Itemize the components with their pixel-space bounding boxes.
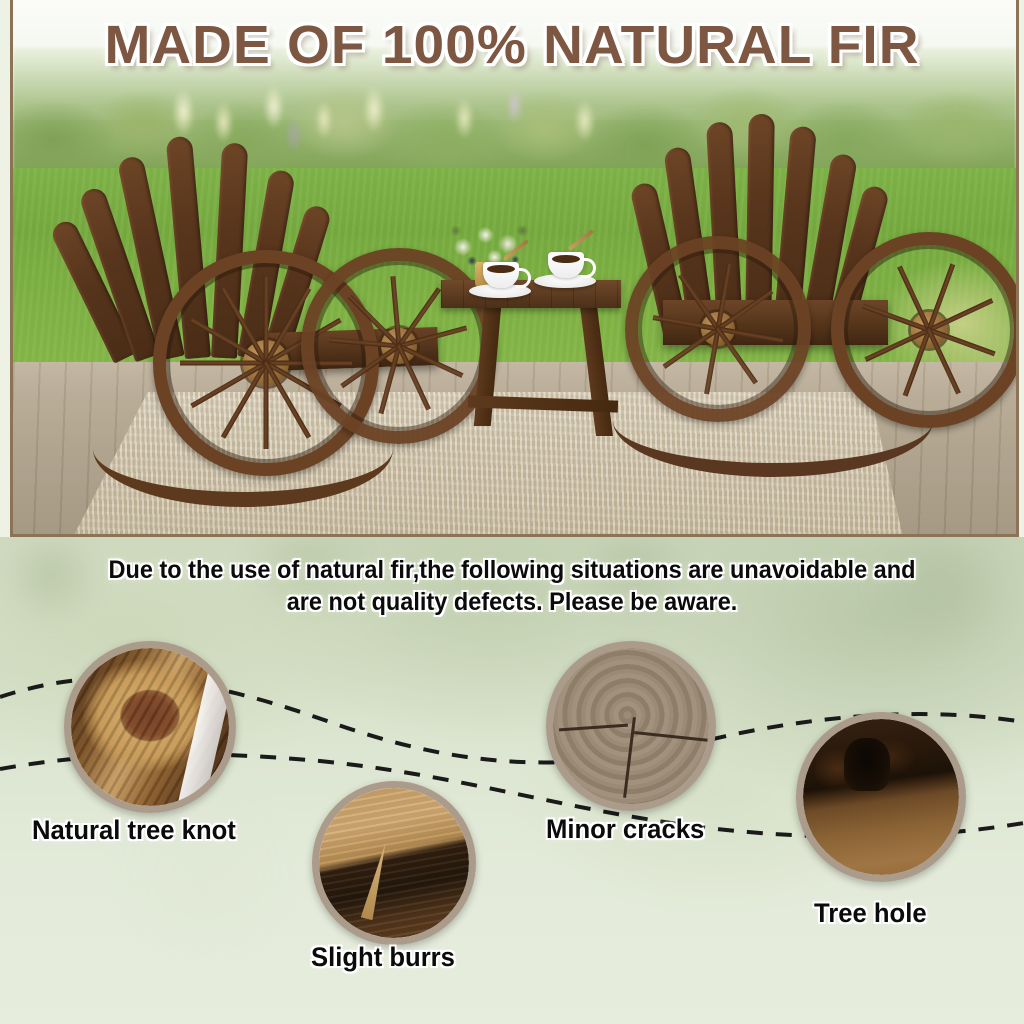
side-table-top xyxy=(441,280,621,308)
feature-label-natural-tree-knot: Natural tree knot xyxy=(32,815,236,846)
feature-image-minor-cracks[interactable] xyxy=(546,641,716,811)
feature-label-tree-hole: Tree hole xyxy=(814,898,927,929)
page-headline: MADE OF 100% NATURAL FIR xyxy=(0,14,1024,76)
feature-image-slight-burrs[interactable] xyxy=(312,781,476,945)
right-chair-wheel-left xyxy=(625,236,811,422)
slight-burrs-photo xyxy=(319,788,469,938)
left-chair-wheel-back xyxy=(301,248,497,444)
minor-cracks-photo xyxy=(553,648,709,804)
right-chair-wheel-right xyxy=(831,232,1019,428)
feature-image-tree-hole[interactable] xyxy=(796,712,966,882)
hero-photo xyxy=(10,0,1019,537)
tree-knot-photo xyxy=(71,648,229,806)
feature-label-minor-cracks: Minor cracks xyxy=(546,814,704,845)
product-infographic-page: MADE OF 100% NATURAL FIR Due to the use … xyxy=(0,0,1024,1024)
tree-hole-photo xyxy=(803,719,959,875)
feature-image-natural-tree-knot[interactable] xyxy=(64,641,236,813)
hole-cavity xyxy=(844,738,891,791)
feature-label-slight-burrs: Slight burrs xyxy=(311,942,455,973)
